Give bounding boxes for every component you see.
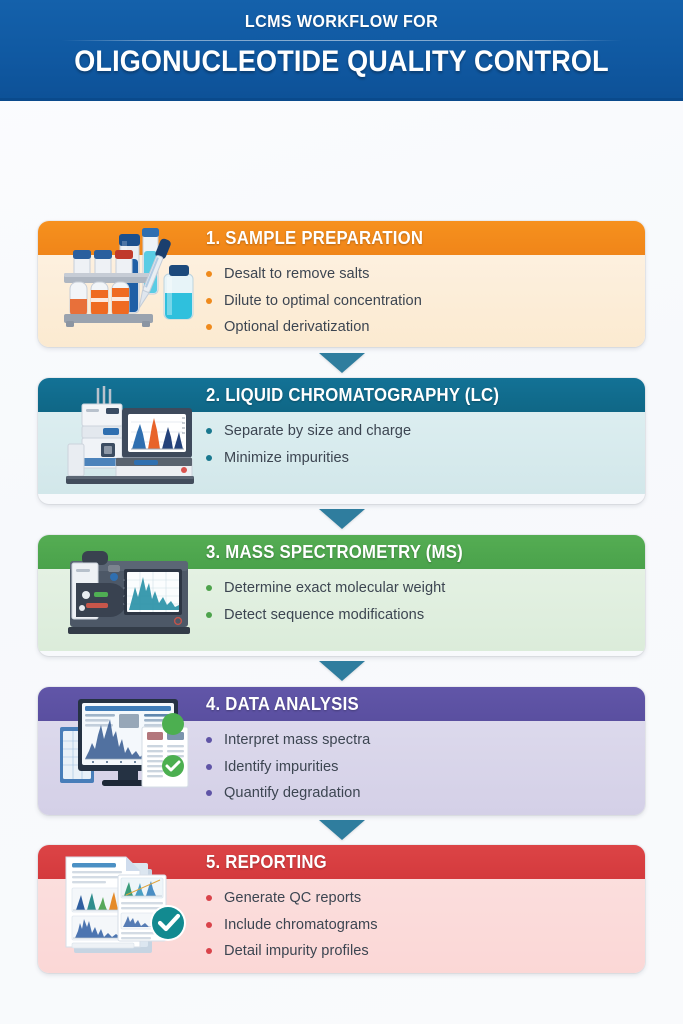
list-item: Detect sequence modifications: [206, 605, 629, 626]
header-divider: [62, 40, 622, 41]
workflow-step-1[interactable]: 1. SAMPLE PREPARATION Desalt to remove s…: [38, 221, 645, 347]
step-3-bullet-list: Determine exact molecular weight Detect …: [206, 578, 629, 625]
header-banner: LCMS WORKFLOW FOR OLIGONUCLEOTIDE QUALIT…: [0, 0, 683, 101]
step-2-header: 2. LIQUID CHROMATOGRAPHY (LC): [38, 378, 645, 412]
down-arrow-icon-4: [319, 820, 365, 840]
step-5-header: 5. REPORTING: [38, 845, 645, 879]
step-2-title: 2. LIQUID CHROMATOGRAPHY (LC): [206, 385, 499, 406]
list-item: Optional derivatization: [206, 317, 629, 338]
step-3-header: 3. MASS SPECTROMETRY (MS): [38, 535, 645, 569]
list-item: Quantify degradation: [206, 783, 629, 804]
list-item: Desalt to remove salts: [206, 264, 629, 285]
list-item: Include chromatograms: [206, 915, 629, 936]
step-1-body: Desalt to remove salts Dilute to optimal…: [38, 255, 645, 347]
header-subtitle: LCMS WORKFLOW FOR: [27, 11, 655, 33]
step-3-body: Determine exact molecular weight Detect …: [38, 569, 645, 651]
step-5-body: Generate QC reports Include chromatogram…: [38, 879, 645, 973]
step-4-title: 4. DATA ANALYSIS: [206, 694, 359, 715]
step-2-body: Separate by size and charge Minimize imp…: [38, 412, 645, 494]
workflow-step-3[interactable]: 43 21 3. MASS SPECTROMETRY (MS) Determin…: [38, 535, 645, 656]
list-item: Interpret mass spectra: [206, 730, 629, 751]
list-item: Generate QC reports: [206, 888, 629, 909]
list-item: Identify impurities: [206, 757, 629, 778]
step-5-title: 5. REPORTING: [206, 852, 327, 873]
step-3-title: 3. MASS SPECTROMETRY (MS): [206, 542, 463, 563]
list-item: Minimize impurities: [206, 448, 629, 469]
step-4-header: 4. DATA ANALYSIS: [38, 687, 645, 721]
down-arrow-icon-1: [319, 353, 365, 373]
step-4-bullet-list: Interpret mass spectra Identify impuriti…: [206, 730, 629, 804]
down-arrow-icon-3: [319, 661, 365, 681]
workflow-step-2[interactable]: 2. LIQUID CHROMATOGRAPHY (LC) Separate b…: [38, 378, 645, 504]
workflow-step-4[interactable]: 4. DATA ANALYSIS Interpret mass spectra …: [38, 687, 645, 815]
step-1-bullet-list: Desalt to remove salts Dilute to optimal…: [206, 264, 629, 338]
step-2-bullet-list: Separate by size and charge Minimize imp…: [206, 421, 629, 468]
list-item: Separate by size and charge: [206, 421, 629, 442]
step-4-body: Interpret mass spectra Identify impuriti…: [38, 721, 645, 815]
workflow-step-5[interactable]: 5. REPORTING Generate QC reports Include…: [38, 845, 645, 973]
header-title: OLIGONUCLEOTIDE QUALITY CONTROL: [34, 45, 649, 79]
list-item: Dilute to optimal concentration: [206, 291, 629, 312]
step-1-title: 1. SAMPLE PREPARATION: [206, 228, 423, 249]
step-1-header: 1. SAMPLE PREPARATION: [38, 221, 645, 255]
list-item: Detail impurity profiles: [206, 941, 629, 962]
list-item: Determine exact molecular weight: [206, 578, 629, 599]
step-5-bullet-list: Generate QC reports Include chromatogram…: [206, 888, 629, 962]
down-arrow-icon-2: [319, 509, 365, 529]
